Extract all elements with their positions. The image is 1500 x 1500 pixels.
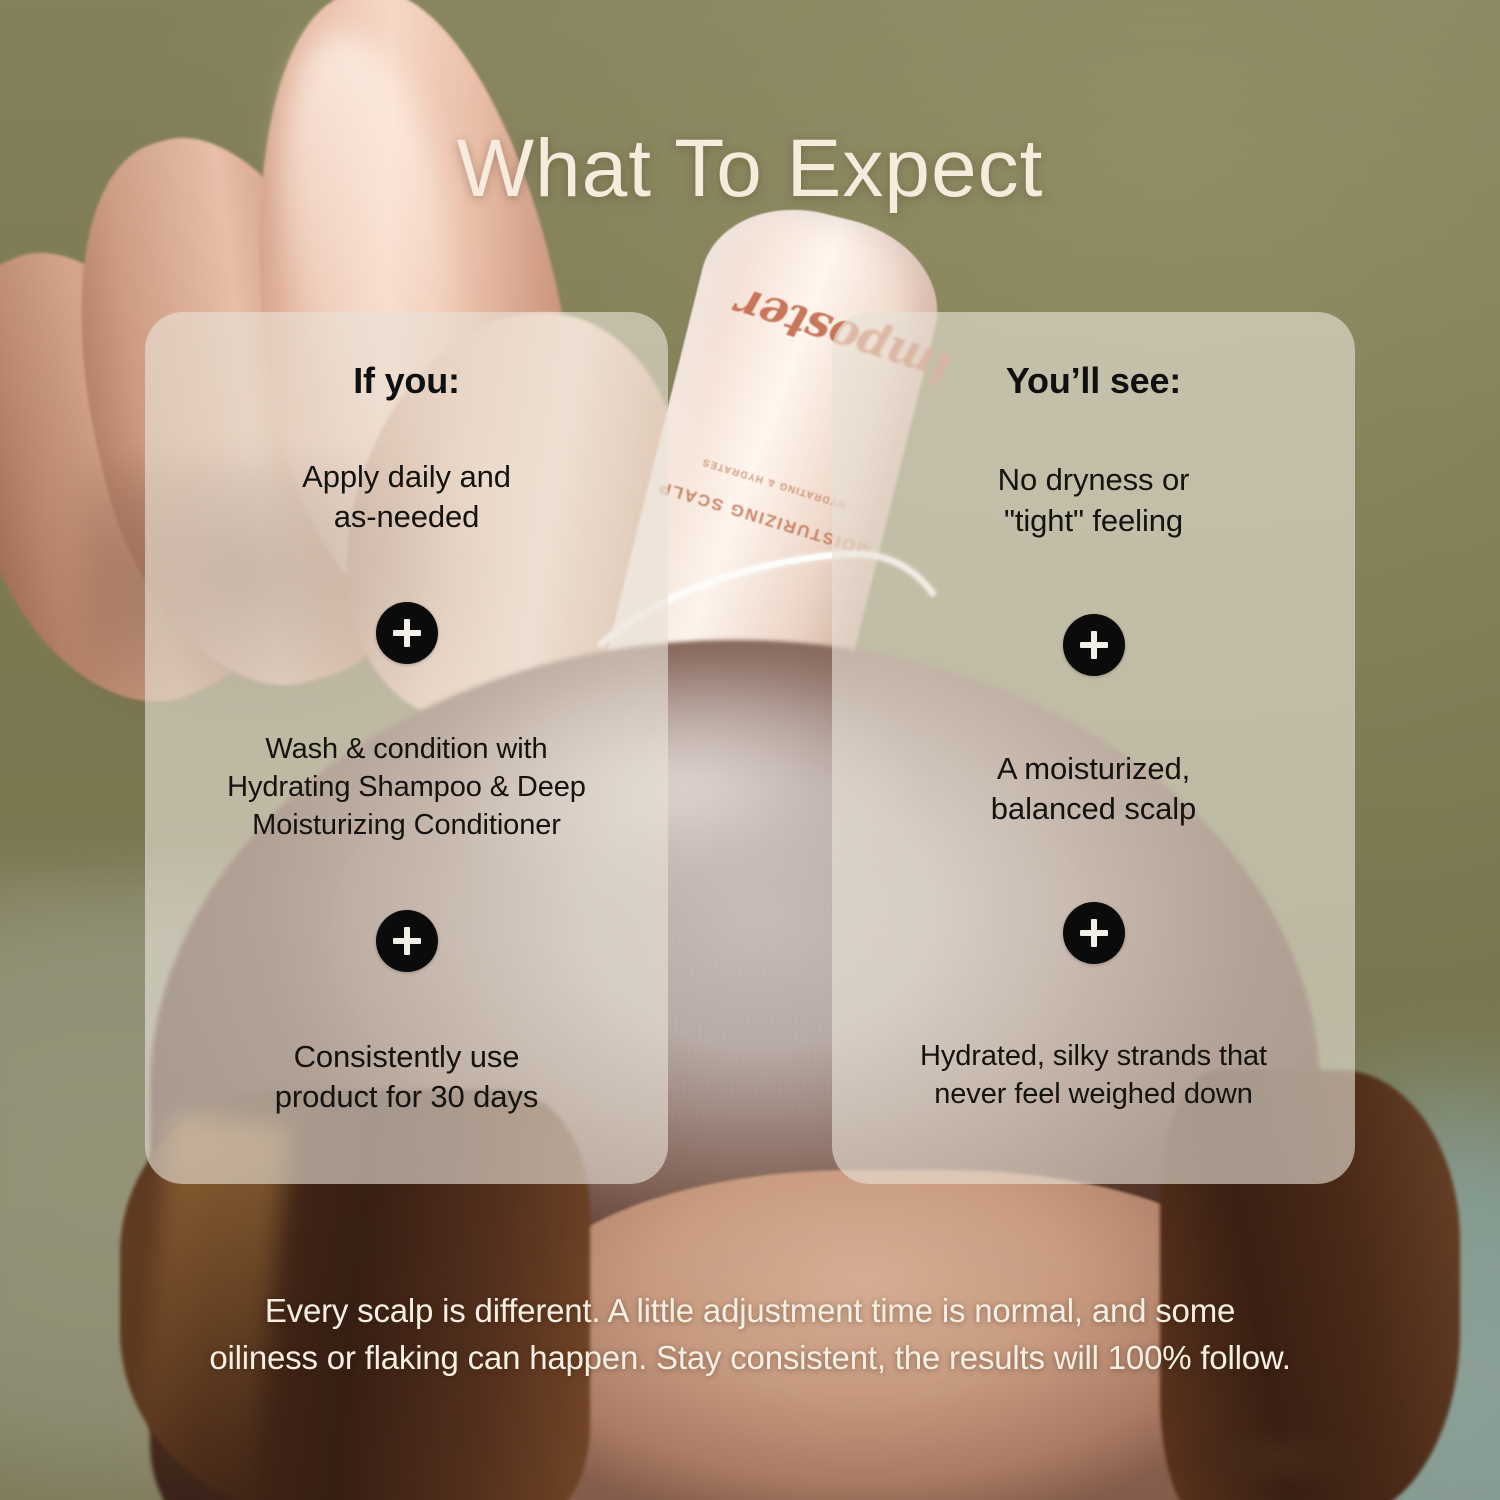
step-text: Hydrated, silky strands that never feel … [920,1037,1267,1114]
step-item: A moisturized, balanced scalp [991,749,1196,830]
step-item: No dryness or "tight" feeling [998,460,1190,541]
card-heading-if-you: If you: [353,360,460,402]
step-text: Apply daily and as-needed [302,457,511,538]
card-body-if-you: Apply daily and as-needed Wash & conditi… [145,402,668,1184]
footer-caption: Every scalp is different. A little adjus… [130,1288,1370,1382]
card-youll-see: You’ll see: No dryness or "tight" feelin… [832,312,1355,1184]
plus-icon [376,602,438,664]
step-text: Wash & condition with Hydrating Shampoo … [227,730,586,845]
plus-icon [376,910,438,972]
page-title: What To Expect [0,122,1500,216]
step-text: No dryness or "tight" feeling [998,460,1190,541]
step-item: Apply daily and as-needed [302,457,511,538]
card-heading-youll-see: You’ll see: [1006,360,1181,402]
plus-icon [1063,902,1125,964]
step-text: Consistently use product for 30 days [275,1037,538,1118]
step-text: A moisturized, balanced scalp [991,749,1196,830]
card-body-youll-see: No dryness or "tight" feeling A moisturi… [832,402,1355,1184]
card-if-you: If you: Apply daily and as-needed Wash &… [145,312,668,1184]
step-item: Consistently use product for 30 days [275,1037,538,1118]
step-item: Wash & condition with Hydrating Shampoo … [227,730,586,845]
step-item: Hydrated, silky strands that never feel … [920,1037,1267,1114]
plus-icon [1063,614,1125,676]
